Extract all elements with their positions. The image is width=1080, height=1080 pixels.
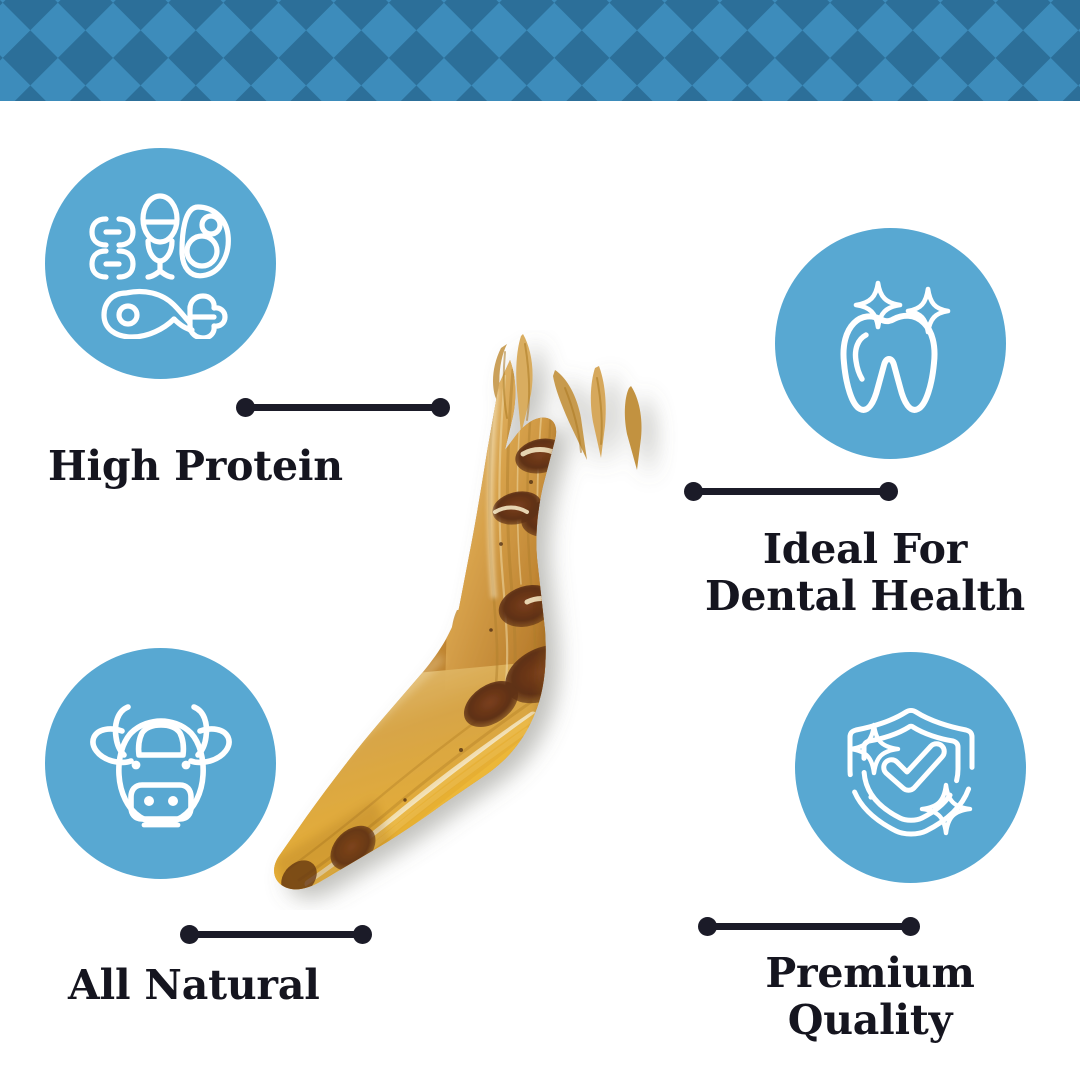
connector-dot-left	[698, 917, 717, 936]
feature-label-all-natural: All Natural	[68, 962, 498, 1009]
feature-circle-dental-health	[775, 228, 1006, 459]
feature-circle-high-protein	[45, 148, 276, 379]
connector-dot-left	[236, 398, 255, 417]
protein-foods-icon	[86, 189, 236, 339]
connector-bar	[716, 923, 902, 930]
connector-bar	[198, 931, 354, 938]
infographic-canvas: High Protein Ideal For Dental Health	[0, 0, 1080, 1080]
connector-dot-left	[180, 925, 199, 944]
shield-check-sparkle-icon	[836, 693, 986, 843]
connector-dot-right	[879, 482, 898, 501]
connector-dental-health	[684, 482, 898, 501]
feature-label-high-protein: High Protein	[48, 443, 478, 490]
connector-bar	[254, 404, 432, 411]
feature-label-premium-quality: Premium Quality	[655, 950, 1080, 1044]
connector-dot-left	[684, 482, 703, 501]
connector-high-protein	[236, 398, 450, 417]
connector-bar	[702, 488, 880, 495]
connector-premium-quality	[698, 917, 920, 936]
feature-circle-premium-quality	[795, 652, 1026, 883]
connector-dot-right	[901, 917, 920, 936]
connector-dot-right	[353, 925, 372, 944]
connector-all-natural	[180, 925, 372, 944]
sparkling-tooth-icon	[816, 269, 966, 419]
cow-head-icon	[86, 689, 236, 839]
header-pattern-band	[0, 0, 1080, 101]
feature-label-dental-health: Ideal For Dental Health	[650, 526, 1080, 620]
product-image	[255, 330, 685, 910]
connector-dot-right	[431, 398, 450, 417]
gingham-pattern-icon	[0, 0, 1080, 101]
feature-circle-all-natural	[45, 648, 276, 879]
